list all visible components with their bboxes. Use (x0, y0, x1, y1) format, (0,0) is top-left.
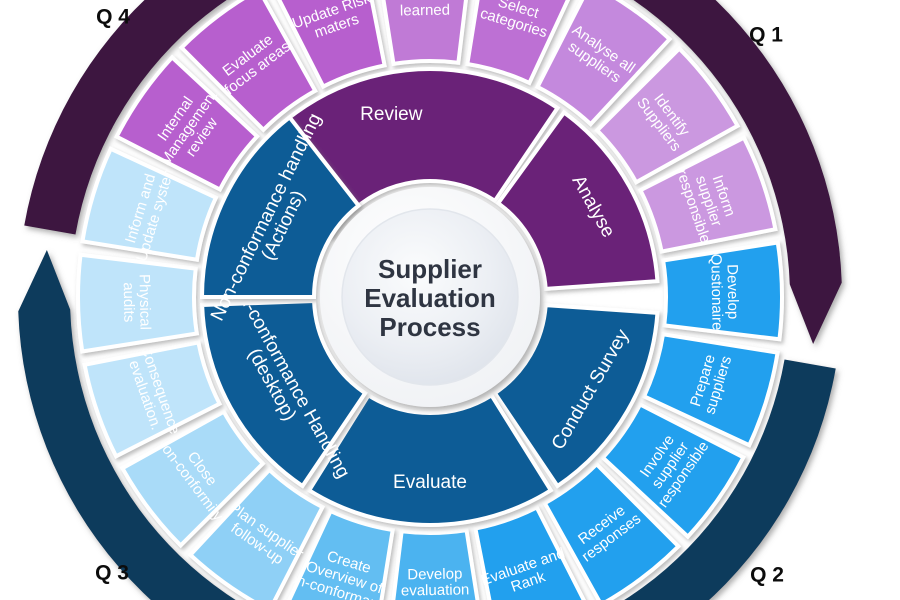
category-label: Evaluate (393, 472, 467, 493)
step-segment[interactable]: Developevaluationreport (388, 530, 485, 600)
step-label: DevelopQustionaire (707, 253, 741, 330)
diagram-canvas: SelectcategoriesAnalyse allsuppliersIden… (0, 0, 900, 600)
step-label: Lessonslearned (397, 0, 453, 19)
step-label: Developevaluationreport (401, 565, 470, 600)
hub-line-1: Supplier (378, 254, 482, 284)
quadrant-label-q1: Q 1 (749, 24, 783, 47)
hub-line-3: Process (379, 312, 480, 342)
quadrant-label-q2: Q 2 (750, 564, 784, 587)
step-segment[interactable]: Lessonslearned (376, 0, 473, 64)
category-label: Review (360, 104, 423, 125)
quadrant-label-q3: Q 3 (95, 562, 129, 585)
step-label: Physicalaudits (120, 274, 154, 330)
quadrant-label-q4: Q 4 (96, 6, 130, 29)
hub-line-2: Evaluation (364, 283, 495, 313)
supplier-evaluation-wheel: SelectcategoriesAnalyse allsuppliersIden… (0, 0, 900, 600)
step-segment[interactable]: Physicalaudits (78, 255, 197, 352)
step-segment[interactable]: DevelopQustionaire (663, 243, 782, 340)
